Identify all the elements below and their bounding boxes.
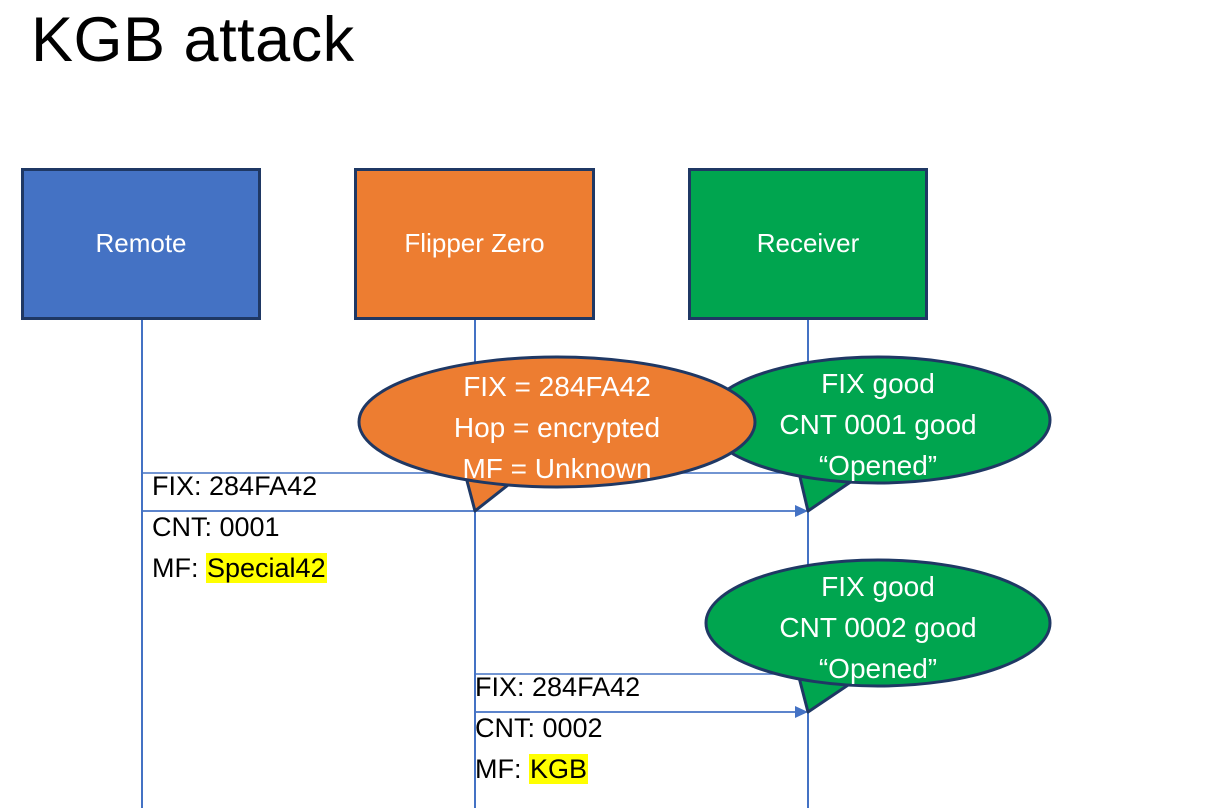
message-2-fix-value: 284FA42 — [532, 672, 640, 702]
actor-box-remote[interactable]: Remote — [21, 168, 261, 320]
message-1-labels: FIX: 284FA42 CNT: 0001 MF: Special42 — [152, 466, 327, 589]
message-2-fix-label: FIX: — [475, 672, 532, 702]
message-2-labels: FIX: 284FA42 CNT: 0002 MF: KGB — [475, 667, 640, 790]
message-1-mf-line: MF: Special42 — [152, 548, 327, 589]
actor-box-flipper[interactable]: Flipper Zero — [354, 168, 595, 320]
message-1-cnt-label: CNT: — [152, 512, 220, 542]
actor-label-flipper: Flipper Zero — [404, 228, 544, 259]
callout-receiver-1 — [706, 357, 1050, 511]
message-1-fix-value: 284FA42 — [209, 471, 317, 501]
message-1-mf-value: Special42 — [206, 553, 327, 583]
message-2-cnt-line: CNT: 0002 — [475, 708, 640, 749]
message-1-cnt-value: 0001 — [220, 512, 280, 542]
actor-label-receiver: Receiver — [757, 228, 860, 259]
message-2-mf-label: MF: — [475, 754, 529, 784]
message-2-cnt-label: CNT: — [475, 713, 543, 743]
message-1-cnt-line: CNT: 0001 — [152, 507, 327, 548]
callout-flipper — [359, 357, 755, 511]
message-1-mf-label: MF: — [152, 553, 206, 583]
message-2-cnt-value: 0002 — [543, 713, 603, 743]
message-2-mf-line: MF: KGB — [475, 749, 640, 790]
actor-label-remote: Remote — [95, 228, 186, 259]
callout-receiver-2 — [706, 560, 1050, 712]
actor-box-receiver[interactable]: Receiver — [688, 168, 928, 320]
message-2-mf-value: KGB — [529, 754, 588, 784]
message-1-fix-line: FIX: 284FA42 — [152, 466, 327, 507]
message-1-fix-label: FIX: — [152, 471, 209, 501]
slide-canvas: KGB attack — [0, 0, 1218, 808]
message-2-fix-line: FIX: 284FA42 — [475, 667, 640, 708]
